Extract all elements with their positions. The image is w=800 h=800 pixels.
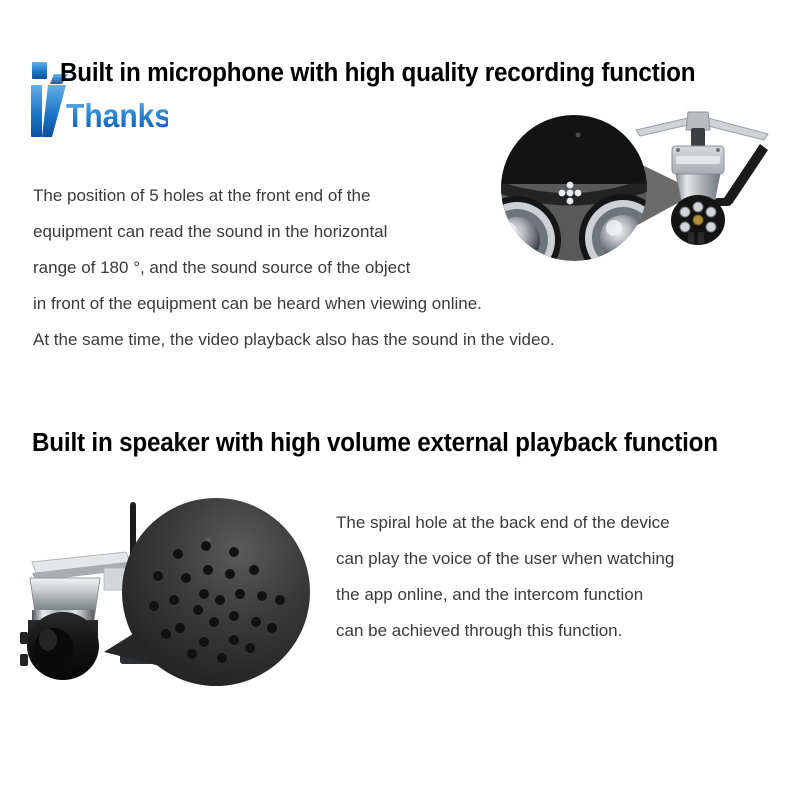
magnifier-circle-microphone — [492, 115, 667, 284]
speaker-hole-icon — [209, 617, 219, 627]
speaker-hole-icon — [249, 565, 259, 575]
microphone-hole-icon — [575, 190, 582, 197]
microphone-hole-icon — [567, 198, 574, 205]
microphone-hole-icon — [567, 190, 574, 197]
screw-icon — [716, 148, 720, 152]
camera-microphone-closeup-figure — [492, 100, 800, 290]
section-speaker-headline: Built in speaker with high volume extern… — [32, 429, 718, 458]
ir-led-icon — [706, 207, 716, 217]
paragraph-line: can play the voice of the user when watc… — [336, 541, 786, 577]
section-speaker-paragraph: The spiral hole at the back end of the d… — [336, 505, 786, 649]
speaker-hole-icon — [187, 649, 197, 659]
solar-arm-right — [704, 118, 768, 140]
speaker-hole-icon — [215, 595, 225, 605]
speaker-hole-icon — [161, 629, 171, 639]
status-sensor-dot — [576, 133, 581, 138]
logo-wordmark: ThanksBuyer — [66, 97, 168, 135]
speaker-hole-icon — [235, 589, 245, 599]
lens-highlight — [39, 629, 57, 651]
side-vent — [20, 654, 28, 666]
paragraph-line: The spiral hole at the back end of the d… — [336, 505, 786, 541]
microphone-hole-icon — [559, 190, 566, 197]
paragraph-line: in front of the equipment can be heard w… — [33, 286, 723, 322]
speaker-hole-icon — [181, 573, 191, 583]
speaker-hole-icon — [229, 547, 239, 557]
speaker-hole-icon — [149, 601, 159, 611]
paragraph-line: the app online, and the intercom functio… — [336, 577, 786, 613]
logo-wordmark-text: ThanksBuyer — [66, 97, 168, 135]
product-feature-page: ThanksBuyer Built in microphone with hig… — [0, 0, 800, 800]
ir-led-icon — [706, 222, 716, 232]
speaker-hole-icon — [251, 617, 261, 627]
speaker-hole-icon — [245, 643, 255, 653]
speaker-hole-icon — [173, 549, 183, 559]
dome-vent — [688, 232, 694, 244]
camera-housing-band — [676, 156, 720, 164]
speaker-hole-icon — [225, 569, 235, 579]
speaker-hole-icon — [169, 595, 179, 605]
antenna — [724, 144, 768, 204]
speaker-hole-icon — [217, 653, 227, 663]
speaker-hole-icon — [229, 635, 239, 645]
camera-microphone-closeup-svg — [492, 100, 800, 290]
camera-speaker-closeup-figure — [8, 482, 338, 697]
magnifier-disc — [122, 498, 310, 686]
dome-vent — [698, 232, 704, 244]
camera-speaker-closeup-svg — [8, 482, 338, 697]
screw-icon — [676, 148, 680, 152]
side-vent — [20, 632, 28, 644]
speaker-hole-icon — [201, 541, 211, 551]
ir-led-icon — [680, 222, 690, 232]
section-microphone-headline: Built in microphone with high quality re… — [60, 59, 695, 88]
speaker-hole-icon — [199, 589, 209, 599]
microphone-hole-icon — [567, 182, 574, 189]
ir-led-icon — [680, 207, 690, 217]
speaker-hole-icon — [267, 623, 277, 633]
solar-arm-left — [636, 118, 692, 136]
speaker-hole-icon — [275, 595, 285, 605]
speaker-hole-icon — [229, 611, 239, 621]
paragraph-line: can be achieved through this function. — [336, 613, 786, 649]
arm-hinge — [686, 112, 710, 130]
center-sensor-icon — [693, 215, 703, 225]
ir-led-icon — [693, 202, 703, 212]
paragraph-line: At the same time, the video playback als… — [33, 322, 723, 358]
speaker-hole-icon — [193, 605, 203, 615]
speaker-hole-icon — [199, 637, 209, 647]
speaker-hole-icon — [153, 571, 163, 581]
speaker-hole-icon — [175, 623, 185, 633]
speaker-hole-icon — [203, 565, 213, 575]
speaker-hole-icon — [257, 591, 267, 601]
